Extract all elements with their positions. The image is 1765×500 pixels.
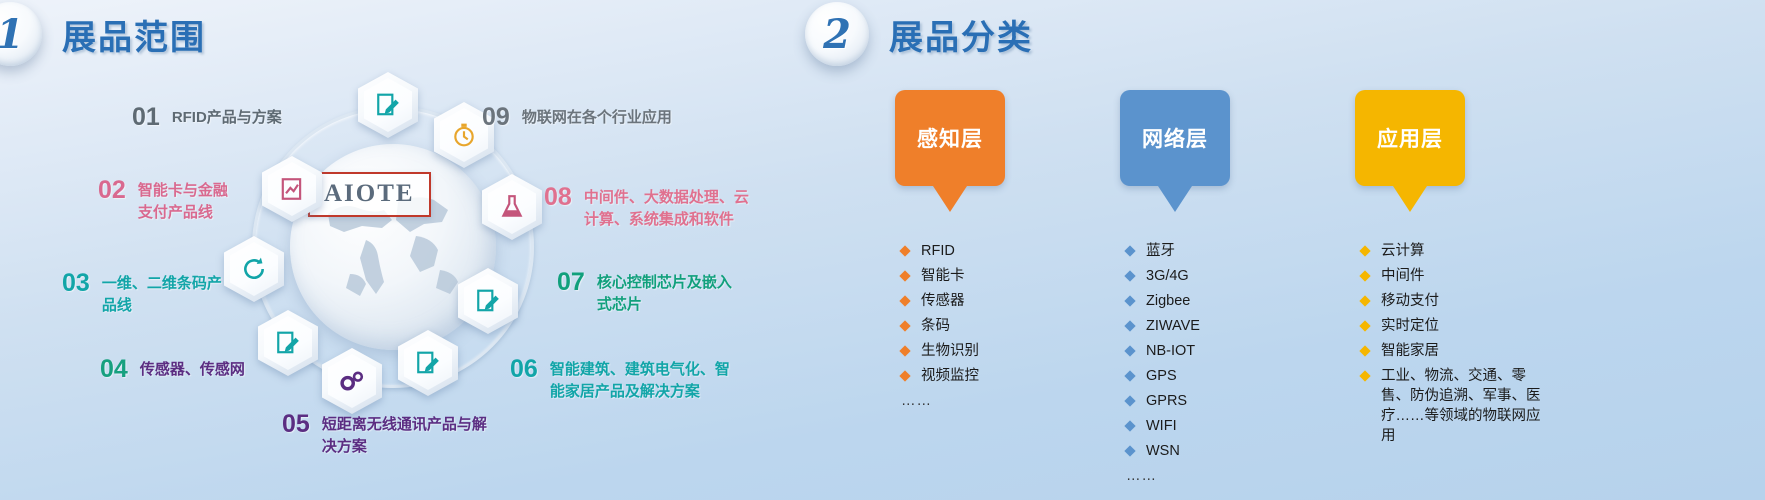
diamond-bullet-icon [899,295,910,306]
category-box-application[interactable]: 应用层 [1355,90,1465,186]
scope-item-number: 06 [510,355,538,385]
scope-item-label: 传感器、传感网 [140,359,245,381]
hex-node-gears [322,348,382,414]
list-item: 智能家居 [1359,341,1655,361]
list-item-label: 中间件 [1381,268,1425,284]
scope-item-label: 短距离无线通讯产品与解决方案 [322,414,487,458]
scope-item-number: 04 [100,355,128,385]
list-item-label: NB-IOT [1146,343,1195,359]
scope-item-01: 01 RFID产品与方案 [132,103,282,133]
scope-item-label: 智能建筑、建筑电气化、智能家居产品及解决方案 [550,359,730,403]
list-item: 中间件 [1359,266,1655,286]
scope-panel: AIOTE [0,70,790,500]
flask-icon [499,194,525,220]
scope-item-label: 核心控制芯片及嵌入式芯片 [597,272,732,316]
diamond-bullet-icon [899,370,910,381]
scope-item-number: 09 [482,103,510,133]
chart-card-icon [279,176,305,202]
scope-item-06: 06 智能建筑、建筑电气化、智能家居产品及解决方案 [510,355,730,403]
document-edit-icon [375,92,401,118]
category-box-network[interactable]: 网络层 [1120,90,1230,186]
list-item: 实时定位 [1359,316,1655,336]
list-item-label: 移动支付 [1381,293,1439,309]
scope-item-number: 05 [282,410,310,440]
list-item-label: RFID [921,243,955,259]
diamond-bullet-icon [899,270,910,281]
section-badge-1: 1 [0,2,42,66]
list-item-label: 条码 [921,318,950,334]
scope-item-05: 05 短距离无线通讯产品与解决方案 [282,410,487,458]
list-item-more: …… [1124,466,1420,486]
list-item-label: 传感器 [921,293,965,309]
list-item-label: GPS [1146,368,1177,384]
scope-item-03: 03 一维、二维条码产品线 [62,269,222,317]
stopwatch-icon [451,122,477,148]
hex-node-flask [482,174,542,240]
list-item-label: 蓝牙 [1146,243,1175,259]
list-item-label: 3G/4G [1146,268,1189,284]
list-item-label: 智能家居 [1381,343,1439,359]
diamond-bullet-icon [1124,395,1135,406]
list-item-label: 云计算 [1381,243,1425,259]
hex-node-document-edit-3 [398,330,458,396]
category-title: 网络层 [1142,123,1208,153]
section-title-scope: 展品范围 [62,10,206,59]
globe-label: AIOTE [308,172,431,217]
poster-canvas: 1 展品范围 2 展品分类 AIO [0,0,1765,500]
list-item: 移动支付 [1359,291,1655,311]
scope-item-09: 09 物联网在各个行业应用 [482,103,672,133]
scope-item-number: 07 [557,268,585,298]
gears-icon [338,368,366,394]
diamond-bullet-icon [1359,320,1370,331]
document-edit-icon [475,288,501,314]
scope-item-number: 08 [544,183,572,213]
diamond-bullet-icon [1124,345,1135,356]
list-item-label: 视频监控 [921,368,979,384]
list-item-label: 工业、物流、交通、零售、防伪追溯、军事、医疗……等领域的物联网应用 [1381,368,1541,444]
hex-node-document-edit-4 [258,310,318,376]
scope-item-08: 08 中间件、大数据处理、云计算、系统集成和软件 [544,183,749,231]
list-item-label: WIFI [1146,418,1177,434]
diamond-bullet-icon [1359,370,1370,381]
hex-node-document-edit-1 [358,72,418,138]
scope-item-label: 智能卡与金融支付产品线 [138,180,228,224]
scope-item-02: 02 智能卡与金融支付产品线 [98,176,228,224]
category-box-tail [1158,186,1192,212]
scope-item-label: 一维、二维条码产品线 [102,273,222,317]
hex-node-document-edit-2 [458,268,518,334]
diamond-bullet-icon [1124,270,1135,281]
category-title: 应用层 [1377,123,1443,153]
diamond-bullet-icon [1124,245,1135,256]
categories-panel: 感知层 RFID 智能卡 传感器 条码 生物识别 视频监控 …… 网络层 蓝牙 … [790,70,1765,500]
diamond-bullet-icon [1124,295,1135,306]
diamond-bullet-icon [1359,345,1370,356]
diamond-bullet-icon [1124,445,1135,456]
category-column-application: 应用层 云计算 中间件 移动支付 实时定位 智能家居 工业、物流、交通、零售、防… [1355,90,1655,451]
diamond-bullet-icon [1359,295,1370,306]
list-item: 工业、物流、交通、零售、防伪追溯、军事、医疗……等领域的物联网应用 [1359,366,1549,446]
refresh-icon [241,256,267,282]
list-item-label: GPRS [1146,393,1187,409]
list-item-label: 智能卡 [921,268,965,284]
list-item-label: 生物识别 [921,343,979,359]
list-item-label: WSN [1146,443,1180,459]
category-title: 感知层 [917,123,983,153]
diamond-bullet-icon [1124,420,1135,431]
diamond-bullet-icon [1359,270,1370,281]
section-header-categories: 2 展品分类 [805,2,1033,66]
scope-item-07: 07 核心控制芯片及嵌入式芯片 [557,268,732,316]
diamond-bullet-icon [1124,320,1135,331]
globe-diagram: AIOTE [238,92,548,402]
diamond-bullet-icon [899,245,910,256]
category-list-application: 云计算 中间件 移动支付 实时定位 智能家居 工业、物流、交通、零售、防伪追溯、… [1355,241,1655,446]
diamond-bullet-icon [1359,245,1370,256]
scope-item-number: 03 [62,269,90,299]
scope-item-label: RFID产品与方案 [172,107,282,129]
scope-item-04: 04 传感器、传感网 [100,355,245,385]
list-item-label: ZIWAVE [1146,318,1200,334]
list-item-label: 实时定位 [1381,318,1439,334]
hex-node-refresh [224,236,284,302]
hex-node-chart-card [262,156,322,222]
category-box-tail [1393,186,1427,212]
scope-item-label: 中间件、大数据处理、云计算、系统集成和软件 [584,187,749,231]
category-box-perception[interactable]: 感知层 [895,90,1005,186]
scope-item-label: 物联网在各个行业应用 [522,107,672,129]
scope-item-number: 01 [132,103,160,133]
document-edit-icon [415,350,441,376]
section-header-scope: 1 展品范围 [0,2,206,66]
scope-item-number: 02 [98,176,126,206]
list-item-label: Zigbee [1146,293,1190,309]
section-badge-2: 2 [805,2,869,66]
list-item: 云计算 [1359,241,1655,261]
document-edit-icon [275,330,301,356]
diamond-bullet-icon [899,345,910,356]
section-title-categories: 展品分类 [889,10,1033,59]
diamond-bullet-icon [899,320,910,331]
diamond-bullet-icon [1124,370,1135,381]
category-box-tail [933,186,967,212]
